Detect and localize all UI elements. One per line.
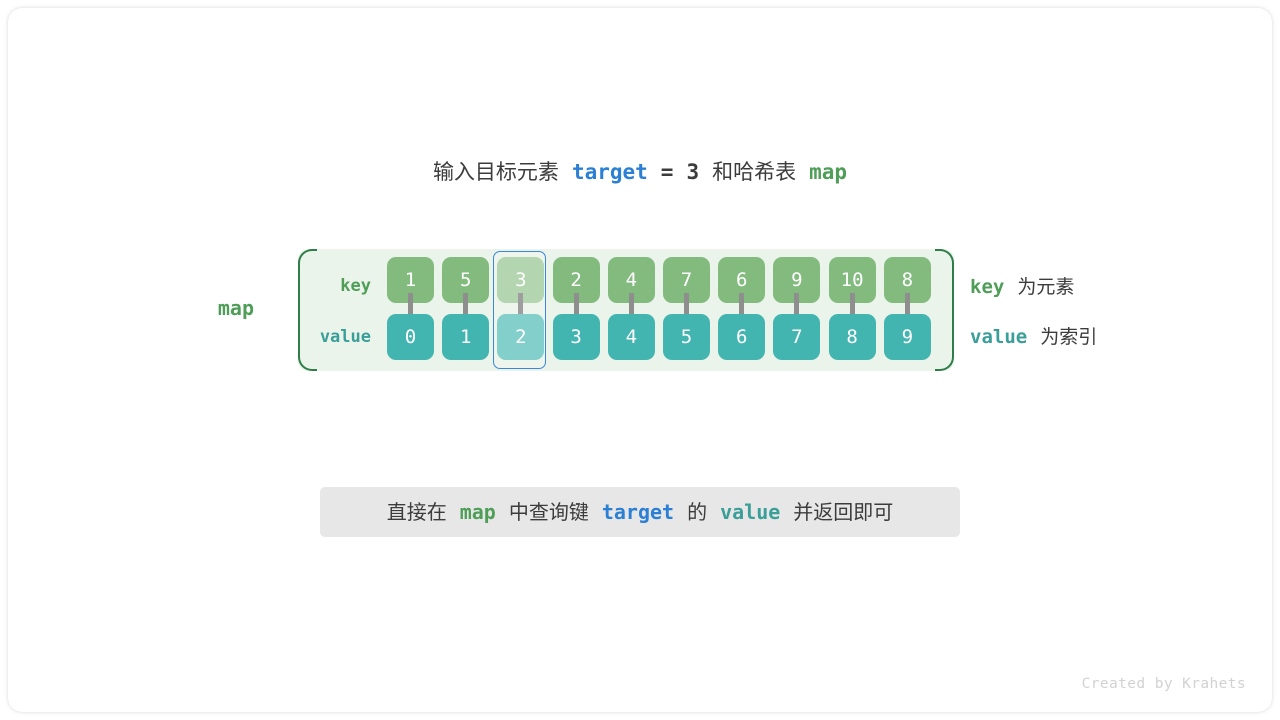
caption-map-var: map [460, 500, 496, 524]
legend-key-row: key为元素 [970, 272, 1074, 299]
row-label-key: key [297, 276, 371, 296]
caption-box: 直接在map中查询键target的value并返回即可 [320, 487, 960, 537]
map-label: map [158, 296, 254, 320]
title-target-var: target [572, 160, 648, 184]
value-cell[interactable]: 5 [663, 314, 710, 360]
credit-text: Created by Krahets [1082, 676, 1246, 692]
title-map-var: map [809, 160, 847, 184]
caption-value-var: value [720, 500, 780, 524]
value-cell[interactable]: 1 [442, 314, 489, 360]
value-cell[interactable]: 7 [773, 314, 820, 360]
caption-part-4: 并返回即可 [793, 502, 893, 524]
title-middle: 和哈希表 [712, 161, 796, 184]
caption-part-3: 的 [687, 502, 707, 524]
value-cell[interactable]: 0 [387, 314, 434, 360]
caption-target-var: target [602, 500, 674, 524]
title-equals: = [661, 160, 674, 184]
highlight-selection-box [493, 251, 546, 369]
caption-part-1: 直接在 [387, 502, 447, 524]
left-bracket-icon [298, 249, 317, 371]
row-label-value: value [297, 327, 371, 347]
caption-part-2: 中查询键 [509, 502, 589, 524]
right-bracket-icon [935, 249, 954, 371]
diagram-title: 输入目标元素target=3和哈希表map [8, 156, 1272, 186]
legend-value-row: value为索引 [970, 322, 1097, 349]
value-cell[interactable]: 9 [884, 314, 931, 360]
value-cell[interactable]: 3 [553, 314, 600, 360]
value-cell[interactable]: 8 [829, 314, 876, 360]
value-cell[interactable]: 4 [608, 314, 655, 360]
legend-value-desc: 为索引 [1040, 327, 1097, 348]
legend-value-term: value [970, 326, 1027, 348]
title-prefix: 输入目标元素 [433, 161, 559, 184]
legend-key-desc: 为元素 [1017, 277, 1074, 298]
title-target-value: 3 [686, 160, 699, 184]
legend-key-term: key [970, 276, 1004, 298]
value-cell[interactable]: 6 [718, 314, 765, 360]
diagram-canvas: 输入目标元素target=3和哈希表map map key value 1051… [8, 8, 1272, 712]
